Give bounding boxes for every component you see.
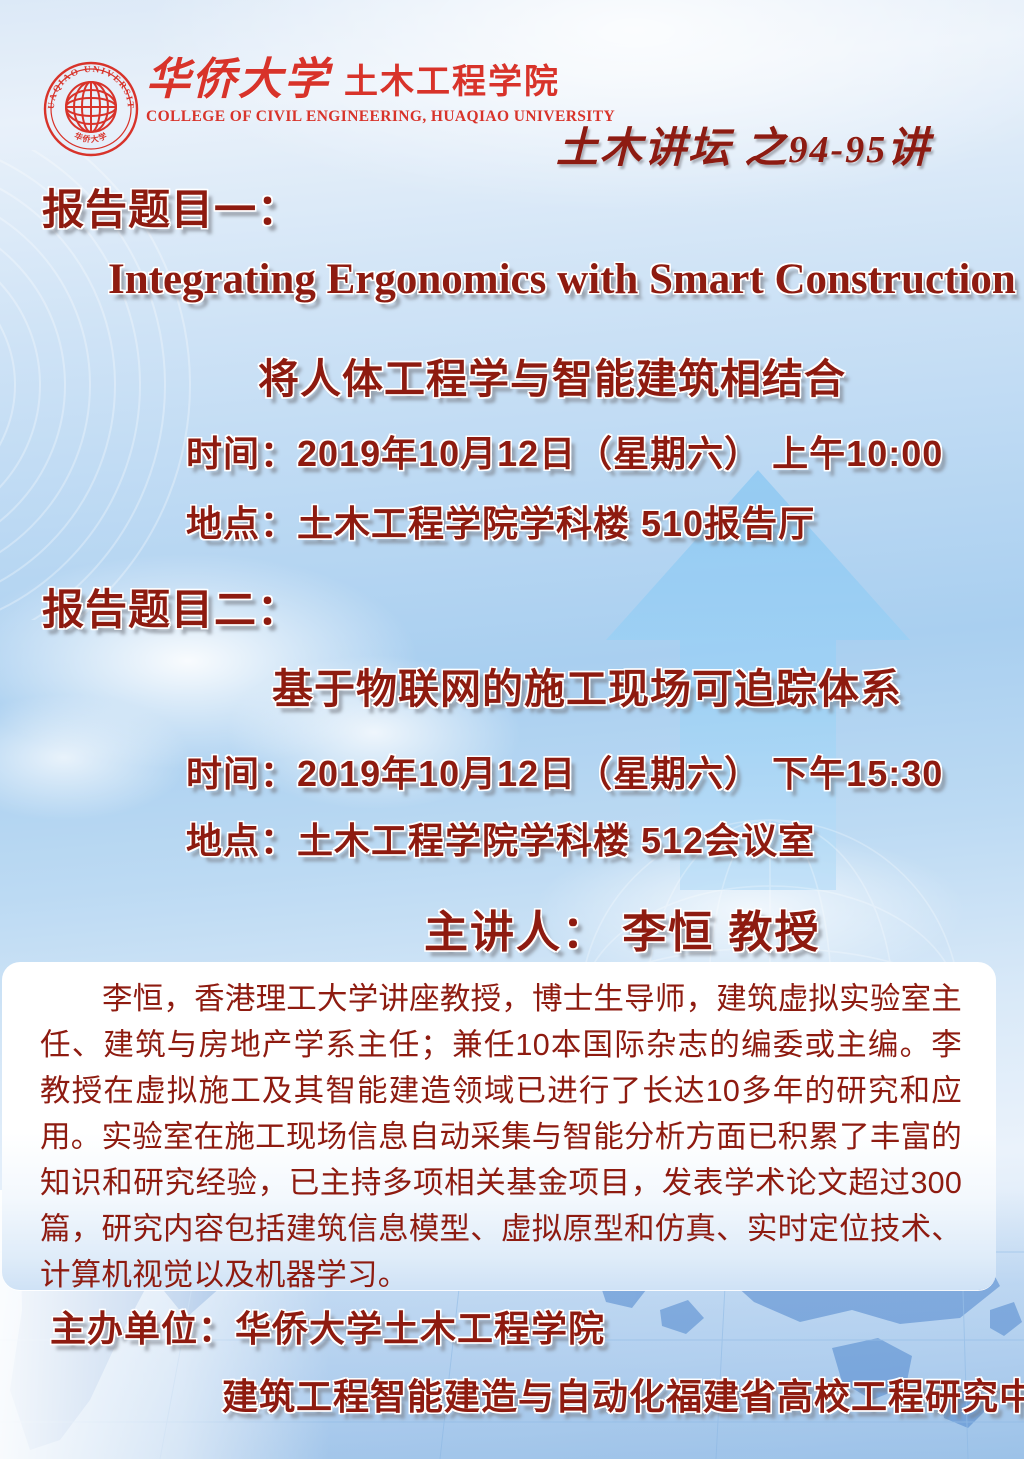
series-title-text: 土木讲坛 之: [556, 126, 789, 172]
college-name-cn: 土木工程学院: [344, 66, 560, 102]
talk-two-location: 地点：土木工程学院学科楼 512会议室: [186, 812, 815, 864]
talk-one-time: 时间：2019年10月12日（星期六） 上午10:00: [186, 425, 943, 477]
brand-lockup: 华侨大学 土木工程学院 COLLEGE OF CIVIL ENGINEERING…: [146, 58, 615, 126]
talk-one-title-cn: 将人体工程学与智能建筑相结合: [258, 345, 846, 405]
speaker-line: 主讲人： 李恒 教授: [424, 896, 820, 960]
talk-one-title-en: Integrating Ergonomics with Smart Constr…: [108, 255, 1016, 304]
series-number: 94-95: [789, 129, 888, 171]
poster-header: HUAQIAO UNIVERSITY 华侨大学 华侨大学 土木工程学院 COLL…: [0, 52, 1024, 152]
talk-two-title-cn: 基于物联网的施工现场可追踪体系: [272, 655, 902, 715]
university-logo: HUAQIAO UNIVERSITY 华侨大学: [42, 60, 140, 158]
svg-text:HUAQIAO UNIVERSITY: HUAQIAO UNIVERSITY: [42, 60, 136, 110]
huaqiao-emblem-icon: HUAQIAO UNIVERSITY 华侨大学: [42, 60, 140, 158]
talk-two-label: 报告题目二：: [42, 576, 300, 637]
talk-two-time: 时间：2019年10月12日（星期六） 下午15:30: [186, 745, 943, 797]
series-suffix: 讲: [887, 126, 931, 172]
poster-canvas: HUAQIAO UNIVERSITY 华侨大学 华侨大学 土木工程学院 COLL…: [0, 0, 1024, 1459]
talk-one-label: 报告题目一：: [42, 176, 300, 237]
college-name-en: COLLEGE OF CIVIL ENGINEERING, HUAQIAO UN…: [146, 108, 615, 126]
lecture-series-title: 土木讲坛 之94-95讲: [556, 114, 931, 175]
university-name-cn: 华侨大学: [146, 58, 330, 102]
speaker-bio-panel: 李恒，香港理工大学讲座教授，博士生导师，建筑虚拟实验室主任、建筑与房地产学系主任…: [2, 962, 996, 1290]
organizer-line-1: 主办单位：华侨大学土木工程学院: [50, 1300, 605, 1352]
talk-one-location: 地点：土木工程学院学科楼 510报告厅: [186, 495, 815, 547]
organizer-line-2: 建筑工程智能建造与自动化福建省高校工程研究中心: [222, 1368, 1024, 1420]
speaker-bio-text: 李恒，香港理工大学讲座教授，博士生导师，建筑虚拟实验室主任、建筑与房地产学系主任…: [40, 976, 962, 1298]
